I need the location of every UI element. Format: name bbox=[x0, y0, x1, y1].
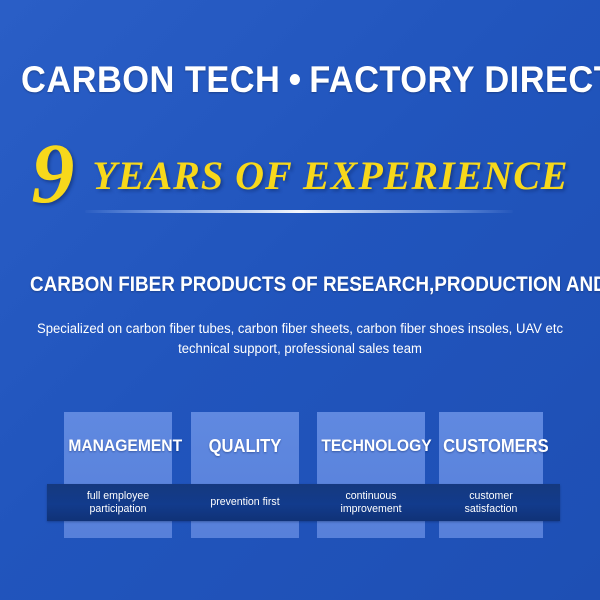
headline-left: CARBON TECH bbox=[21, 59, 280, 100]
card-title: MANAGEMENT bbox=[68, 436, 167, 456]
description-line-1: Specialized on carbon fiber tubes, carbo… bbox=[26, 319, 573, 339]
years-label: YEARS OF EXPERIENCE bbox=[92, 154, 568, 198]
card-caption-management: full employee participation bbox=[66, 484, 170, 521]
card-title: TECHNOLOGY bbox=[321, 436, 420, 456]
promo-banner: CARBON TECHFACTORY DIRECT 9YEARS OF EXPE… bbox=[0, 0, 600, 600]
caption-line-1: continuous bbox=[340, 490, 401, 503]
caption-line-2: participation bbox=[87, 503, 149, 516]
years-of-experience: 9YEARS OF EXPERIENCE bbox=[0, 128, 600, 214]
caption-line-1: full employee bbox=[87, 490, 149, 503]
caption-line-2: satisfaction bbox=[465, 503, 518, 516]
card-title: CUSTOMERS bbox=[443, 436, 539, 456]
caption-line-1: customer bbox=[465, 490, 518, 503]
caption-line-2: improvement bbox=[340, 503, 401, 516]
card-title: QUALITY bbox=[195, 436, 294, 456]
years-number: 9 bbox=[31, 130, 74, 216]
card-caption-customers: customer satisfaction bbox=[441, 484, 541, 521]
subheadline: CARBON FIBER PRODUCTS OF RESEARCH,PRODUC… bbox=[30, 272, 570, 298]
caption-band: full employee participation prevention f… bbox=[47, 484, 560, 521]
card-caption-technology: continuous improvement bbox=[319, 484, 423, 521]
caption-line-1: prevention first bbox=[210, 496, 279, 509]
description-line-2: technical support, professional sales te… bbox=[26, 339, 573, 359]
card-caption-quality: prevention first bbox=[193, 484, 297, 521]
divider-line bbox=[85, 210, 513, 213]
headline-right: FACTORY DIRECT bbox=[309, 59, 600, 100]
description: Specialized on carbon fiber tubes, carbo… bbox=[26, 319, 573, 359]
headline: CARBON TECHFACTORY DIRECT bbox=[21, 58, 579, 102]
bullet-dot-icon bbox=[290, 74, 300, 85]
